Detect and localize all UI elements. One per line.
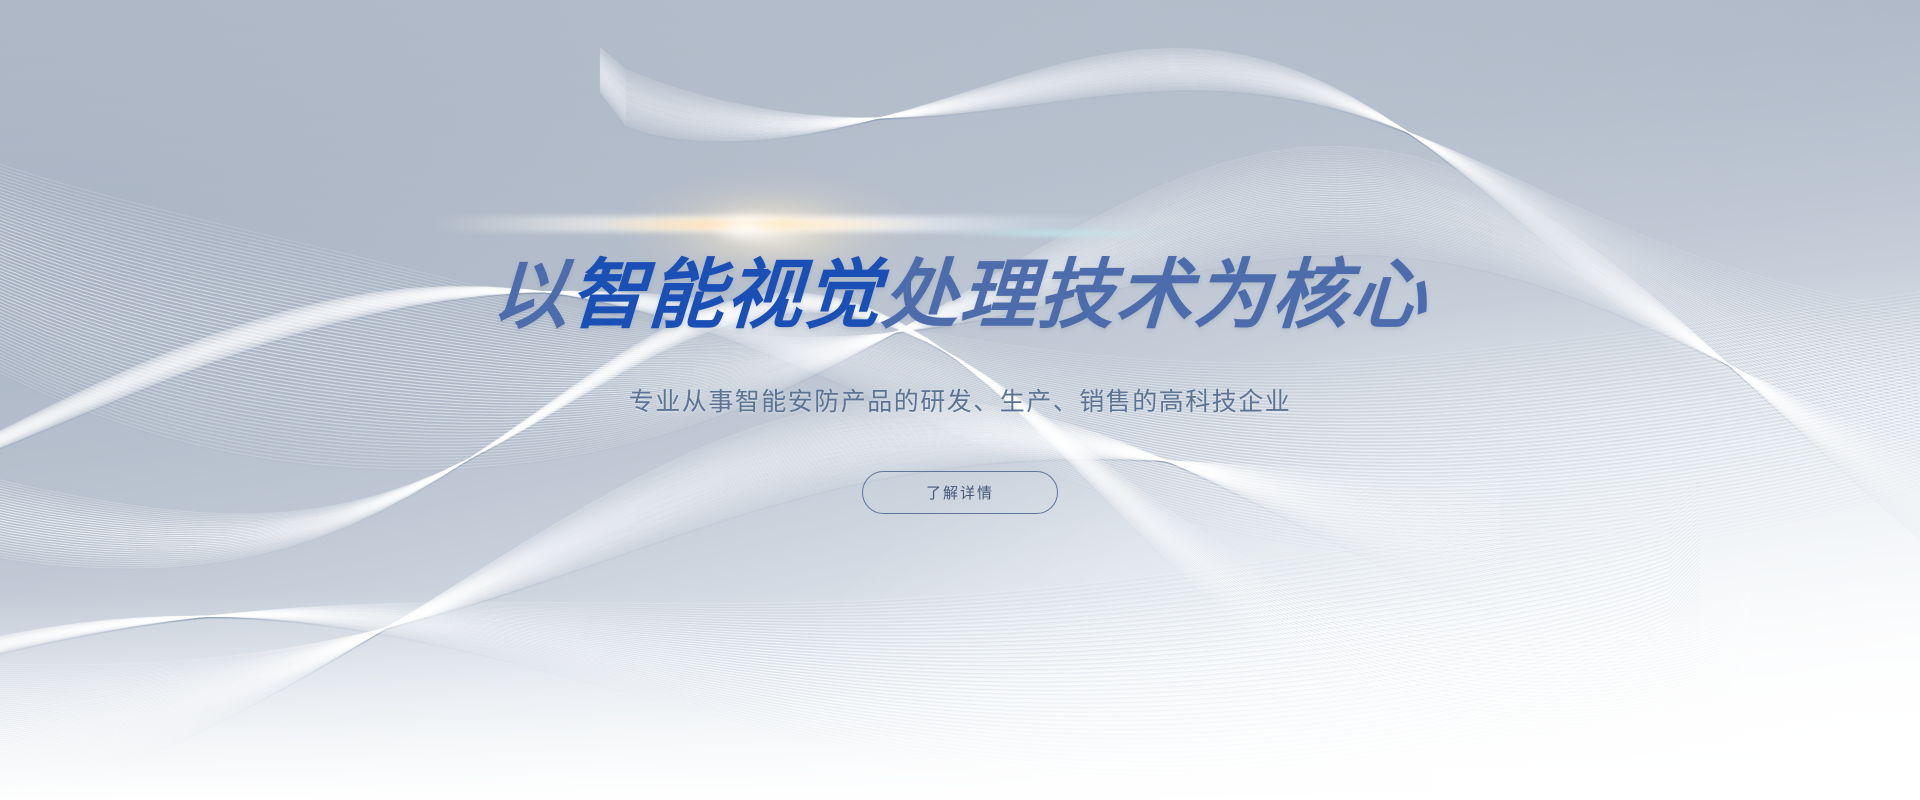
headline-segment-lead: 以 (490, 253, 572, 338)
page-title: 以智能视觉处理技术为核心 (490, 258, 1430, 334)
headline-segment-accent: 智能视觉 (568, 253, 884, 338)
hero-content: 以智能视觉处理技术为核心 专业从事智能安防产品的研发、生产、销售的高科技企业 了… (0, 0, 1920, 800)
hero-banner: 以智能视觉处理技术为核心 专业从事智能安防产品的研发、生产、销售的高科技企业 了… (0, 0, 1920, 800)
headline-segment-tail: 处理技术为核心 (880, 253, 1430, 338)
learn-more-button[interactable]: 了解详情 (862, 471, 1058, 514)
hero-subtitle: 专业从事智能安防产品的研发、生产、销售的高科技企业 (629, 382, 1292, 418)
